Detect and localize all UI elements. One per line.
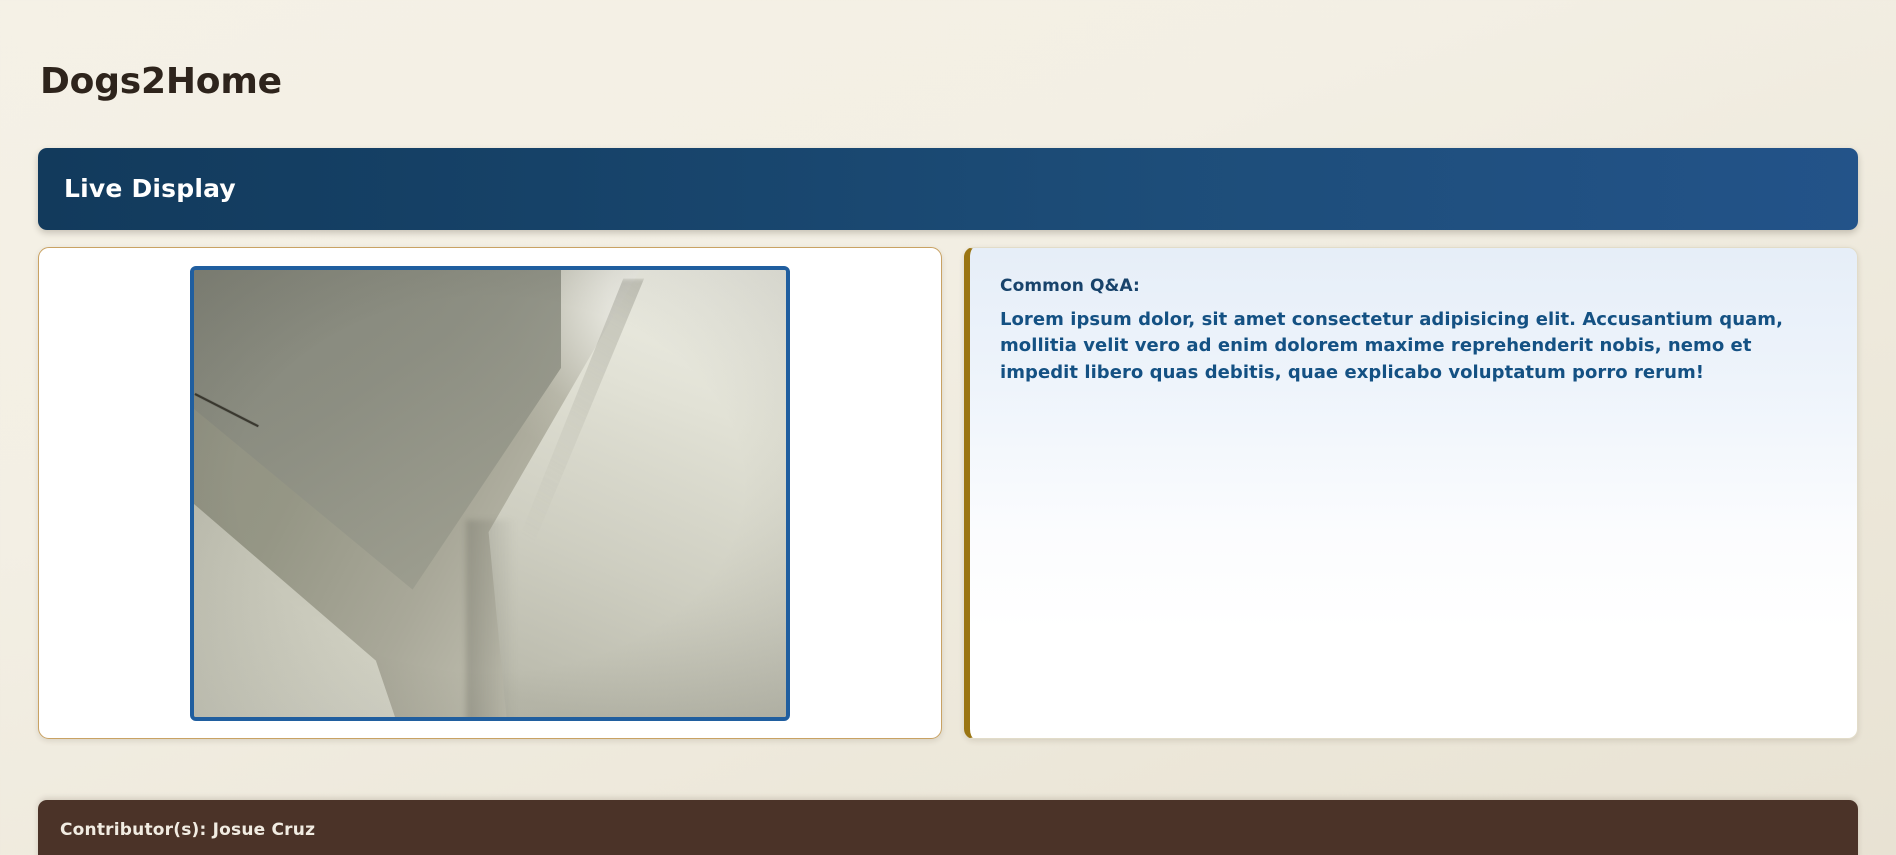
qa-body-text: Lorem ipsum dolor, sit amet consectetur … — [1000, 307, 1827, 386]
camera-card — [38, 247, 942, 739]
camera-scene-vignette — [194, 270, 786, 717]
footer-bar: Contributor(s): Josue Cruz — [38, 800, 1858, 855]
live-display-header: Live Display — [38, 148, 1858, 230]
content-row: Common Q&A: Lorem ipsum dolor, sit amet … — [38, 247, 1858, 739]
qa-panel: Common Q&A: Lorem ipsum dolor, sit amet … — [964, 247, 1858, 739]
camera-feed-frame[interactable] — [190, 266, 790, 721]
page-root: Dogs2Home Live Display Common Q&A: L — [0, 0, 1896, 855]
qa-heading: Common Q&A: — [1000, 276, 1827, 296]
live-display-title: Live Display — [64, 174, 236, 203]
page-title: Dogs2Home — [38, 0, 1858, 102]
footer-contributors: Contributor(s): Josue Cruz — [60, 820, 315, 840]
camera-feed-image — [194, 270, 786, 717]
